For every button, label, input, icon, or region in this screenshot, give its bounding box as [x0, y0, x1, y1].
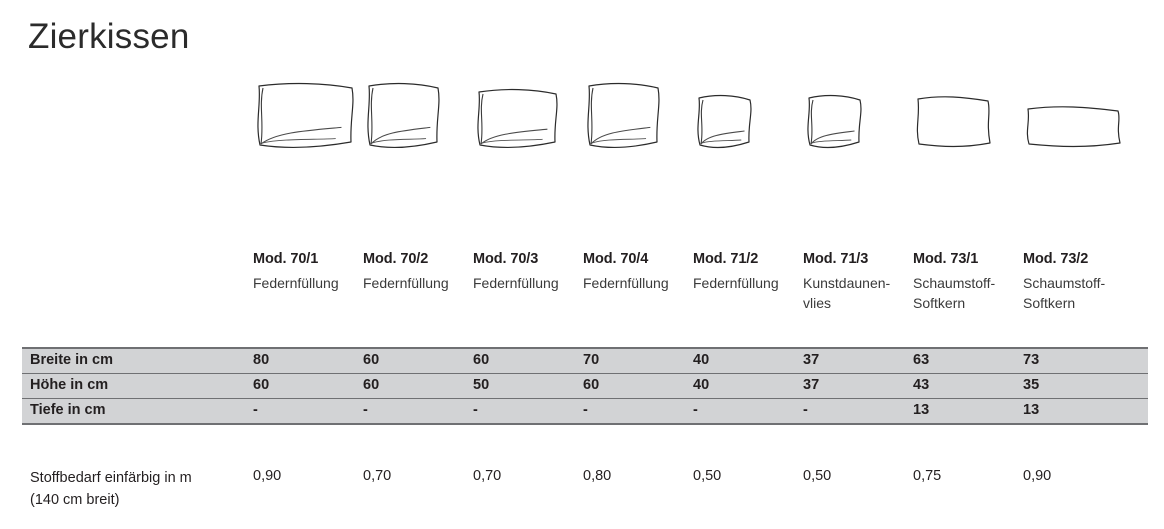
- filling-line-1: Federnfüllung: [693, 275, 779, 291]
- filling-description: Schaumstoff-Softkern: [913, 273, 1025, 314]
- product-spec-sheet: Zierkissen Mod. 70/1FedernfüllungMod. 70…: [0, 0, 1164, 529]
- table-cell: 13: [1023, 402, 1039, 418]
- table-cell: 60: [253, 377, 269, 393]
- table-cell: 60: [363, 377, 379, 393]
- filling-description: Schaumstoff-Softkern: [1023, 273, 1135, 314]
- table-row: Höhe in cm6060506040374335: [22, 374, 1148, 399]
- filling-description: Kunstdaunen-vlies: [803, 273, 915, 314]
- row-header: Tiefe in cm: [30, 402, 105, 418]
- filling-line-1: Federnfüllung: [583, 275, 669, 291]
- table-cell: 37: [803, 352, 819, 368]
- pillow-icon: [253, 80, 357, 150]
- table-cell: 70: [583, 352, 599, 368]
- model-name: Mod. 70/1: [253, 250, 365, 270]
- table-cell: 60: [473, 352, 489, 368]
- filling-description: Federnfüllung: [583, 273, 695, 293]
- filling-line-1: Federnfüllung: [473, 275, 559, 291]
- pillow-illustration-wrap: [913, 72, 1017, 150]
- filling-line-1: Schaumstoff-: [913, 275, 995, 291]
- product-label-block: Mod. 70/2Federnfüllung: [363, 250, 475, 293]
- product-label-block: Mod. 71/3Kunstdaunen-vlies: [803, 250, 915, 313]
- product-columns: Mod. 70/1FedernfüllungMod. 70/2Federnfül…: [253, 150, 1148, 345]
- filling-line-2: Softkern: [913, 293, 1025, 313]
- fabric-label-line1: Stoffbedarf einfärbig in m: [30, 470, 192, 486]
- model-name: Mod. 71/2: [693, 250, 805, 270]
- pillow-icon: [693, 92, 755, 150]
- pillow-icon: [583, 80, 663, 150]
- fabric-requirement-label: Stoffbedarf einfärbig in m (140 cm breit…: [30, 468, 192, 512]
- table-cell: 40: [693, 377, 709, 393]
- table-cell: 35: [1023, 377, 1039, 393]
- table-cell: -: [363, 402, 368, 418]
- pillow-icon: [363, 80, 443, 150]
- fabric-requirement-value: 0,90: [253, 468, 281, 484]
- product-label-block: Mod. 71/2Federnfüllung: [693, 250, 805, 293]
- cushion-icon: [913, 92, 993, 150]
- filling-description: Federnfüllung: [253, 273, 365, 293]
- table-cell: 80: [253, 352, 269, 368]
- table-cell: 50: [473, 377, 489, 393]
- dimensions-table: Breite in cm8060607040376373Höhe in cm60…: [22, 347, 1148, 425]
- model-name: Mod. 70/4: [583, 250, 695, 270]
- fabric-requirement-value: 0,90: [1023, 468, 1051, 484]
- pillow-illustration-wrap: [473, 72, 577, 150]
- product-label-block: Mod. 70/1Federnfüllung: [253, 250, 365, 293]
- model-name: Mod. 71/3: [803, 250, 915, 270]
- pillow-illustration-wrap: [803, 72, 907, 150]
- pillow-icon: [473, 86, 561, 150]
- table-cell: 13: [913, 402, 929, 418]
- table-cell: -: [253, 402, 258, 418]
- model-name: Mod. 73/1: [913, 250, 1025, 270]
- filling-description: Federnfüllung: [363, 273, 475, 293]
- product-label-block: Mod. 73/2Schaumstoff-Softkern: [1023, 250, 1135, 313]
- product-label-block: Mod. 70/3Federnfüllung: [473, 250, 585, 293]
- table-cell: -: [803, 402, 808, 418]
- pillow-illustration-wrap: [583, 72, 687, 150]
- model-name: Mod. 70/2: [363, 250, 475, 270]
- filling-description: Federnfüllung: [693, 273, 805, 293]
- model-name: Mod. 73/2: [1023, 250, 1135, 270]
- filling-line-2: Softkern: [1023, 293, 1135, 313]
- table-cell: 40: [693, 352, 709, 368]
- pillow-illustration-wrap: [693, 72, 797, 150]
- pillow-illustration-wrap: [1023, 72, 1127, 150]
- table-cell: 60: [363, 352, 379, 368]
- fabric-requirement-value: 0,70: [473, 468, 501, 484]
- filling-line-1: Schaumstoff-: [1023, 275, 1105, 291]
- pillow-illustration-wrap: [253, 72, 357, 150]
- model-name: Mod. 70/3: [473, 250, 585, 270]
- fabric-label-line2: (140 cm breit): [30, 490, 192, 512]
- filling-line-1: Federnfüllung: [363, 275, 449, 291]
- fabric-requirement-value: 0,50: [803, 468, 831, 484]
- fabric-requirement-value: 0,75: [913, 468, 941, 484]
- filling-line-1: Kunstdaunen-: [803, 275, 890, 291]
- table-cell: 43: [913, 377, 929, 393]
- table-cell: 60: [583, 377, 599, 393]
- pillow-illustration-wrap: [363, 72, 467, 150]
- product-label-block: Mod. 73/1Schaumstoff-Softkern: [913, 250, 1025, 313]
- filling-description: Federnfüllung: [473, 273, 585, 293]
- cushion-icon: [1023, 102, 1123, 150]
- product-label-block: Mod. 70/4Federnfüllung: [583, 250, 695, 293]
- row-header: Höhe in cm: [30, 377, 108, 393]
- filling-line-2: vlies: [803, 293, 915, 313]
- filling-line-1: Federnfüllung: [253, 275, 339, 291]
- fabric-requirement-value: 0,70: [363, 468, 391, 484]
- table-cell: -: [693, 402, 698, 418]
- pillow-icon: [803, 92, 865, 150]
- table-cell: 37: [803, 377, 819, 393]
- table-row: Tiefe in cm------1313: [22, 399, 1148, 423]
- table-cell: 73: [1023, 352, 1039, 368]
- page-title: Zierkissen: [28, 18, 189, 57]
- table-cell: -: [473, 402, 478, 418]
- table-cell: -: [583, 402, 588, 418]
- table-row: Breite in cm8060607040376373: [22, 349, 1148, 374]
- fabric-requirement-value: 0,80: [583, 468, 611, 484]
- fabric-requirement-value: 0,50: [693, 468, 721, 484]
- table-cell: 63: [913, 352, 929, 368]
- row-header: Breite in cm: [30, 352, 113, 368]
